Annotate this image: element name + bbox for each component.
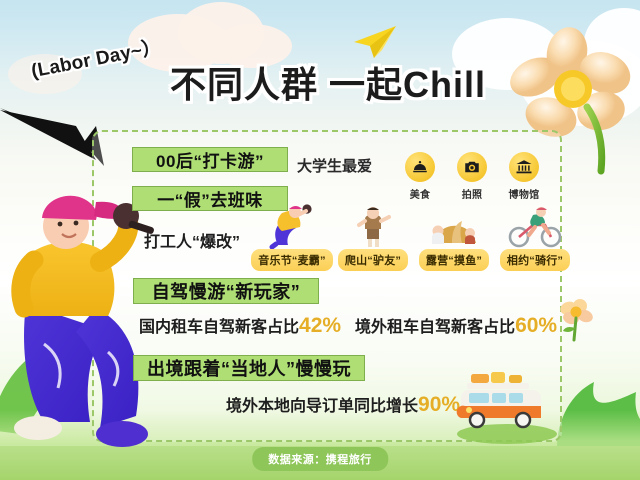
data-source-badge: 数据来源：携程旅行 [252,447,388,471]
food-dome-icon [405,152,435,182]
persona-label: 爬山“驴友” [338,249,408,271]
tag-selfdrive-newplayer[interactable]: 自驾慢游“新玩家” [133,278,319,304]
interest-label: 美食 [392,186,448,201]
museum-icon [509,152,539,182]
interest-item-food[interactable]: 美食 [392,152,448,201]
persona-label: 相约“骑行” [500,249,570,271]
worker-transformation-label: 打工人“爆改” [144,228,240,252]
stat-row-localguide: 境外本地向导订单同比增长90% [226,392,460,417]
infographic-poster: (Labor Day~） 不同人群 一起Chill [0,0,640,480]
small-flower-icon [556,296,594,342]
persona-music-festival[interactable]: 音乐节“麦霸” [246,203,338,271]
interest-label: 拍照 [444,186,500,201]
interest-item-photo[interactable]: 拍照 [444,152,500,201]
stat-prefix: 境外本地向导订单同比增长 [226,398,418,415]
tag-outbound-local-guide[interactable]: 出境跟着“当地人”慢慢玩 [133,355,365,381]
interest-label: 博物馆 [496,186,552,201]
cycling-rider-icon [489,203,581,249]
page-title: 不同人群 一起Chill [170,56,486,108]
persona-hiking[interactable]: 爬山“驴友” [327,203,419,271]
persona-label: 露营“摸鱼” [419,249,489,271]
persona-camping[interactable]: 露营“摸鱼” [408,203,500,271]
stat-value: 90% [418,393,460,416]
tag-00hou-checkin[interactable]: 00后“打卡游” [132,147,288,172]
camera-icon [457,152,487,182]
university-favorite-label: 大学生最爱 [297,155,372,176]
persona-label: 音乐节“麦霸” [251,249,332,271]
hiking-traveler-icon [327,203,419,249]
camper-van-illustration [455,368,565,444]
camping-relaxer-icon [408,203,500,249]
persona-cycling[interactable]: 相约“骑行” [489,203,581,271]
stat-value: 60% [515,314,557,337]
stat-row-selfdrive: 国内租车自驾新客占比42%境外租车自驾新客占比60% [139,313,557,338]
stat-prefix: 境外租车自驾新客占比 [355,319,515,336]
stat-value: 42% [299,314,341,337]
music-festival-singer-icon [246,203,338,249]
interest-item-museum[interactable]: 博物馆 [496,152,552,201]
stat-prefix: 国内租车自驾新客占比 [139,319,299,336]
